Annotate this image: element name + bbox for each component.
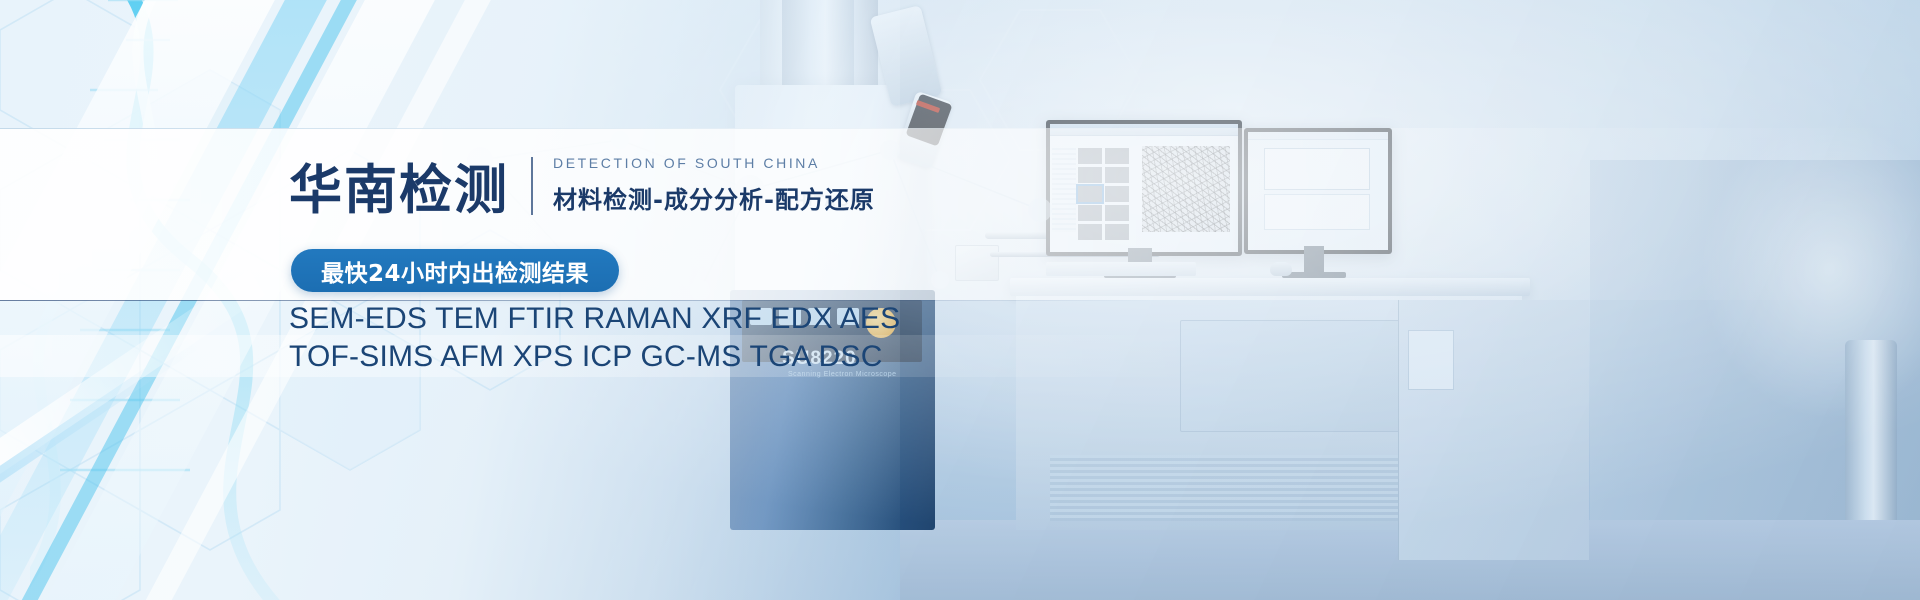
title-divider <box>531 157 533 215</box>
brand-subtitles: DETECTION OF SOUTH CHINA 材料检测-成分分析-配方还原 <box>553 155 875 217</box>
brand-subtitle-en: DETECTION OF SOUTH CHINA <box>553 155 875 172</box>
techniques-line-2: TOF-SIMS AFM XPS ICP GC-MS TGA DSC <box>289 338 1069 376</box>
techniques-line-1: SEM-EDS TEM FTIR RAMAN XRF EDX AES <box>289 300 1069 338</box>
brand-title: 华南检测 <box>289 164 509 217</box>
brand-lockup: 华南检测 DETECTION OF SOUTH CHINA 材料检测-成分分析-… <box>289 155 875 217</box>
brand-subtitle-cn: 材料检测-成分分析-配方还原 <box>553 180 875 215</box>
cta-button[interactable]: 最快24小时内出检测结果 <box>291 249 619 292</box>
techniques-list: SEM-EDS TEM FTIR RAMAN XRF EDX AES TOF-S… <box>289 300 1069 377</box>
hero-banner: HITACHI SU8220 Scanning Electron Microsc… <box>0 0 1920 600</box>
cta-button-label: 最快24小时内出检测结果 <box>321 254 589 288</box>
banner-content: 华南检测 DETECTION OF SOUTH CHINA 材料检测-成分分析-… <box>0 0 1920 600</box>
